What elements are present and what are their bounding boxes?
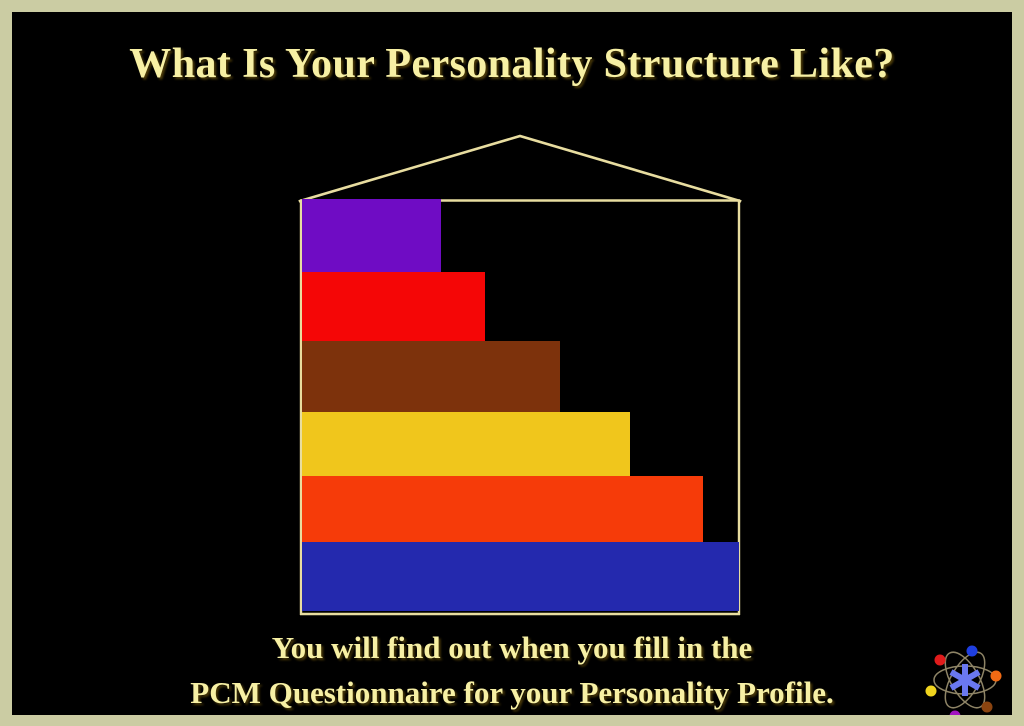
roof-line [300,136,740,201]
floor-bar-1 [302,199,441,272]
atom-logo[interactable] [922,637,1008,715]
brown-electron-icon [982,702,993,713]
caption-line-2: PCM Questionnaire for your Personality P… [12,670,1012,715]
page-title: What Is Your Personality Structure Like? [12,40,1012,88]
blue-electron-icon [967,646,978,657]
floor-bar-4 [302,412,630,476]
floor-bar-6 [302,542,739,611]
floor-bar-3 [302,341,560,412]
red-electron-icon [935,655,946,666]
slide-canvas: What Is Your Personality Structure Like? [12,12,1012,715]
slide-frame: What Is Your Personality Structure Like? [0,0,1024,726]
floor-bar-5 [302,476,703,542]
caption: You will find out when you fill in the P… [12,625,1012,715]
purple-electron-icon [950,711,961,716]
caption-line-1: You will find out when you fill in the [12,625,1012,670]
atom-logo-svg [922,637,1008,715]
floor-stack [302,199,742,614]
yellow-electron-icon [926,686,937,697]
orange-electron-icon [991,671,1002,682]
floor-bar-2 [302,272,485,341]
